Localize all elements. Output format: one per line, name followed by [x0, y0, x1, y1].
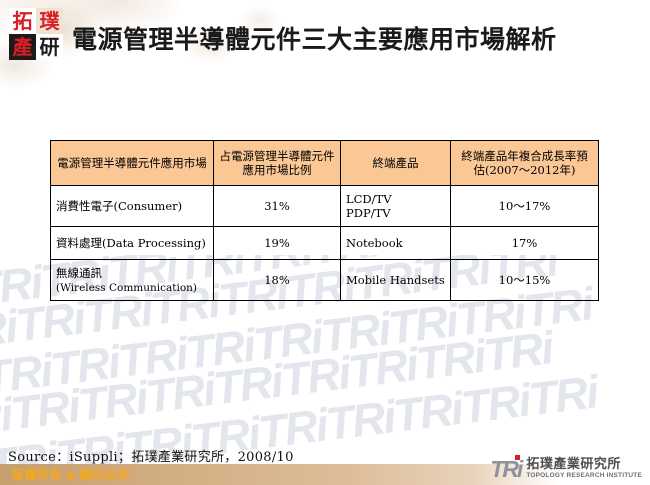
cell-market: 無線通訊 (Wireless Communication)	[51, 260, 214, 301]
cell-cagr: 17%	[451, 227, 599, 260]
cell-share: 19%	[214, 227, 341, 260]
cell-market: 資料處理(Data Processing)	[51, 227, 214, 260]
cell-market: 消費性電子(Consumer)	[51, 186, 214, 227]
end-product-line-2: PDP/TV	[346, 206, 391, 220]
tri-logo-english: TOPOLOGY RESEARCH INSTITUTE	[526, 473, 642, 480]
market-line-1: 無線通訊	[56, 266, 102, 280]
table-header-row: 電源管理半導體元件應用市場 占電源管理半導體元件應用市場比例 終端產品 終端產品…	[51, 141, 599, 186]
source-note: Source：iSuppli；拓璞產業研究所，2008/10	[8, 446, 294, 465]
end-product-line-1: LCD/TV	[346, 192, 392, 206]
copyright-text: 版權所有 ▪ 翻印必究	[12, 466, 130, 483]
logo-char-chan: 產	[9, 34, 36, 60]
cell-share: 31%	[214, 186, 341, 227]
column-header-end-product: 終端產品	[341, 141, 451, 186]
logo-char-tuo: 拓	[9, 8, 36, 34]
table-row: 消費性電子(Consumer) 31% LCD/TV PDP/TV 10～17%	[51, 186, 599, 227]
cell-share: 18%	[214, 260, 341, 301]
tri-logo-text-block: 拓璞產業研究所 TOPOLOGY RESEARCH INSTITUTE	[526, 458, 642, 480]
page-title: 電源管理半導體元件三大主要應用市場解析	[72, 20, 557, 56]
watermark-row: TRiTRiTRiTRiTRiTRiTRiTRiTRi	[0, 320, 555, 448]
table-row: 資料處理(Data Processing) 19% Notebook 17%	[51, 227, 599, 260]
tri-corporate-logo: TRi 拓璞產業研究所 TOPOLOGY RESEARCH INSTITUTE	[490, 458, 642, 481]
cell-end-product: LCD/TV PDP/TV	[341, 186, 451, 227]
market-line-2: (Wireless Communication)	[56, 282, 197, 294]
cell-cagr: 10～17%	[451, 186, 599, 227]
cell-end-product: Mobile Handsets	[341, 260, 451, 301]
cell-end-product: Notebook	[341, 227, 451, 260]
table-row: 無線通訊 (Wireless Communication) 18% Mobile…	[51, 260, 599, 301]
logo-char-pu: 璞	[36, 8, 63, 34]
tri-logo-chinese: 拓璞產業研究所	[526, 458, 642, 471]
column-header-market: 電源管理半導體元件應用市場	[51, 141, 214, 186]
tri-dot-icon	[515, 455, 520, 460]
tri-wordmark: TRi	[490, 458, 521, 481]
logo-char-yan: 研	[36, 34, 63, 60]
slide-canvas: TRiTRiTRiTRiTRiTRiTRiTRiTRi TRiTRiTRiTRi…	[0, 0, 650, 485]
market-analysis-table: 電源管理半導體元件應用市場 占電源管理半導體元件應用市場比例 終端產品 終端產品…	[50, 140, 599, 301]
column-header-cagr: 終端產品年複合成長率預估(2007～2012年)	[451, 141, 599, 186]
cell-cagr: 10～15%	[451, 260, 599, 301]
column-header-share: 占電源管理半導體元件應用市場比例	[214, 141, 341, 186]
tri-logo-mark: 拓 璞 產 研	[9, 8, 63, 60]
